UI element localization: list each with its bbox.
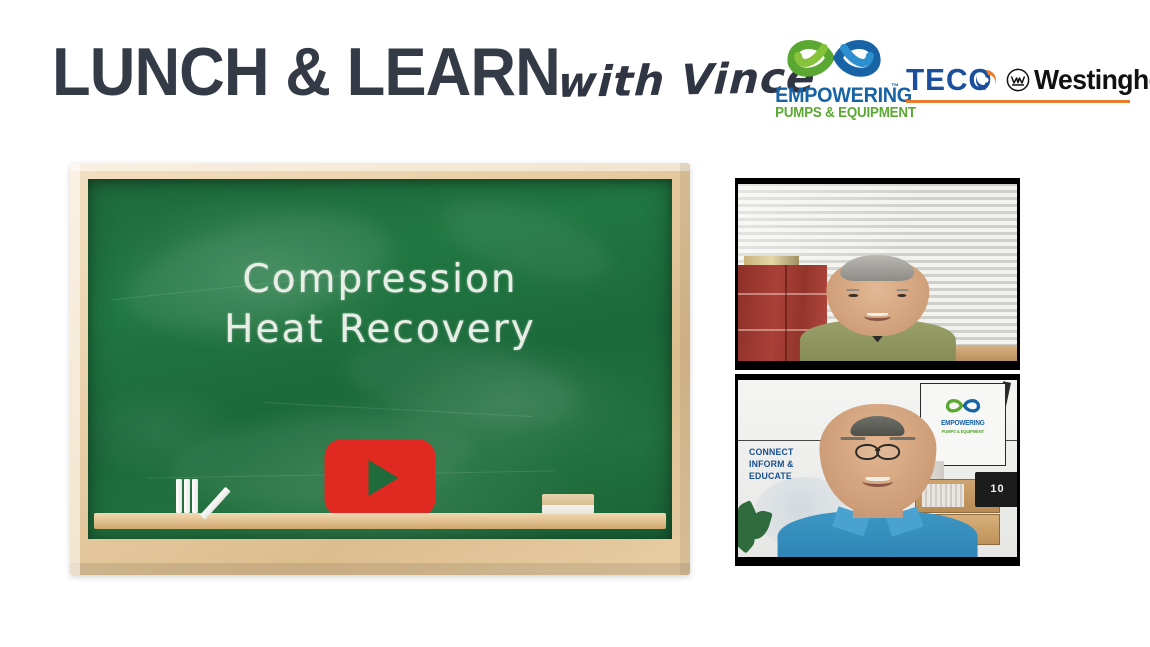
- trademark-icon: ™: [891, 82, 899, 91]
- chalk-eraser: [542, 494, 594, 514]
- logo-empowering-pumps[interactable]: EMPOWERING ™ PUMPS & EQUIPMENT: [770, 34, 898, 126]
- video-letterbox-top: [735, 374, 1020, 380]
- glasses-bridge: [875, 449, 880, 451]
- speaker-eye: [897, 294, 906, 298]
- video-panel-group: EMPOWERING PUMPS & EQUIPMENT CONNECT INF…: [735, 178, 1020, 568]
- speaker-brow: [847, 289, 859, 291]
- chalkboard-heading-line1: Compression: [242, 257, 517, 302]
- youtube-play-button[interactable]: [325, 439, 436, 517]
- speaker-mouth: [862, 476, 892, 488]
- video-frame-bottom: EMPOWERING PUMPS & EQUIPMENT CONNECT INF…: [738, 379, 1017, 557]
- infinity-icon: [945, 395, 982, 416]
- chalkboard-video-thumbnail[interactable]: Compression Heat Recovery: [70, 163, 690, 575]
- eyeglasses: [855, 444, 900, 456]
- page-title: LUNCH & LEARN: [52, 38, 560, 106]
- video-panel-top[interactable]: [735, 178, 1020, 370]
- potted-plant: [738, 496, 783, 557]
- infinity-icon: [784, 34, 884, 82]
- glasses-lens-right: [876, 444, 900, 460]
- video-letterbox-bottom: [735, 361, 1020, 370]
- speaker-portrait-top: [799, 258, 955, 361]
- chalkboard-heading: Compression Heat Recovery: [88, 255, 672, 355]
- logo-underline-rule: [906, 100, 1130, 103]
- chalkboard-slate: Compression Heat Recovery: [88, 179, 672, 539]
- video-frame-top: [738, 183, 1017, 361]
- logo-empowering-word: EMPOWERING: [775, 84, 893, 106]
- logo-teco-westinghouse[interactable]: TECO Westinghouse: [906, 62, 1130, 110]
- logo-westinghouse-word: Westinghouse: [1034, 64, 1150, 96]
- logo-empowering-subtitle: PUMPS & EQUIPMENT: [775, 106, 893, 121]
- poster-subtitle: PUMPS & EQUIPMENT: [925, 429, 1002, 434]
- chalk-stick: [176, 479, 182, 513]
- speaker-brow: [840, 437, 866, 440]
- chalk-tray: [94, 513, 666, 529]
- chalk-stick: [184, 479, 190, 513]
- swirl-icon: [974, 68, 998, 92]
- speaker-eye: [849, 294, 858, 298]
- play-triangle-icon: [368, 460, 398, 496]
- video-letterbox-bottom: [735, 557, 1020, 566]
- tagline-line-1: CONNECT: [749, 447, 794, 459]
- speaker-hair: [851, 416, 905, 436]
- cabinet-divider: [785, 265, 787, 361]
- speaker-brow: [896, 289, 908, 291]
- video-letterbox-top: [735, 178, 1020, 184]
- speaker-brow: [889, 437, 915, 440]
- desk-clock: 10: [975, 472, 1017, 508]
- circle-w-icon: [1006, 68, 1030, 92]
- speaker-hair: [840, 255, 914, 282]
- tagline-line-2: INFORM &: [749, 459, 794, 471]
- header-bar: LUNCH & LEARN with Vince EMPOWERING ™ PU…: [0, 0, 1150, 150]
- chalkboard-heading-line2: Heat Recovery: [88, 305, 672, 355]
- slide-canvas: LUNCH & LEARN with Vince EMPOWERING ™ PU…: [0, 0, 1150, 647]
- chalk-stick: [192, 479, 198, 513]
- speaker-mouth: [864, 312, 891, 321]
- shelf-books: [922, 484, 964, 506]
- background-tagline: CONNECT INFORM & EDUCATE: [749, 447, 794, 483]
- video-panel-bottom[interactable]: EMPOWERING PUMPS & EQUIPMENT CONNECT INF…: [735, 374, 1020, 566]
- poster-word: EMPOWERING: [925, 420, 1002, 427]
